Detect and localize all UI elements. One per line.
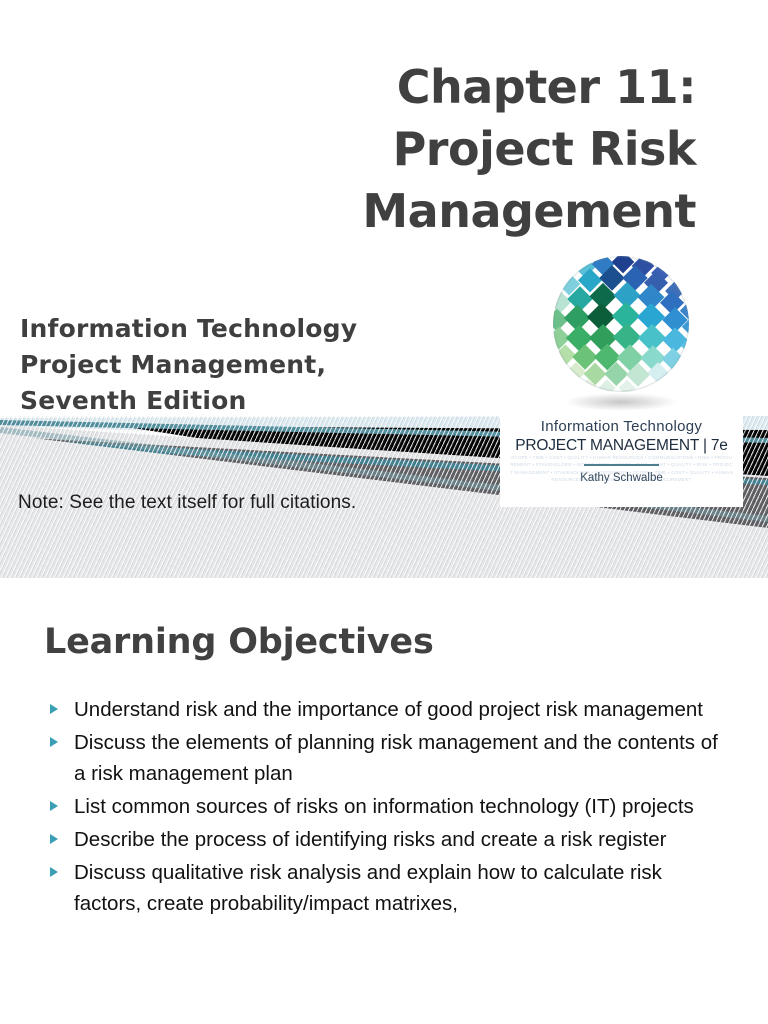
- list-item-label: Discuss the elements of planning risk ma…: [74, 731, 718, 785]
- page-title: Learning Objectives: [44, 622, 434, 662]
- subtitle-line-2: Project Management,: [20, 347, 460, 383]
- list-item-label: List common sources of risks on informat…: [74, 795, 694, 818]
- cover-title-line-1: Information Technology: [500, 418, 743, 435]
- globe-squares-icon: [540, 252, 703, 417]
- objectives-list: Understand risk and the importance of go…: [46, 694, 728, 921]
- slide-subtitle-block: Information Technology Project Managemen…: [20, 311, 460, 419]
- triangle-bullet-icon: [50, 704, 58, 714]
- triangle-bullet-icon: [50, 801, 58, 811]
- slide-title-block: Chapter 11: Project Risk Management: [276, 56, 696, 242]
- list-item: Describe the process of identifying risk…: [46, 824, 728, 855]
- list-item: List common sources of risks on informat…: [46, 791, 728, 822]
- cover-author: Kathy Schwalbe: [500, 472, 743, 484]
- triangle-bullet-icon: [50, 834, 58, 844]
- list-item: Discuss qualitative risk analysis and ex…: [46, 857, 728, 919]
- book-cover-image: SCOPE • TIME • COST • QUALITY • HUMAN RE…: [500, 248, 743, 507]
- triangle-bullet-icon: [50, 737, 58, 747]
- list-item-label: Understand risk and the importance of go…: [74, 698, 703, 721]
- citation-note: Note: See the text itself for full citat…: [18, 492, 356, 514]
- title-line-3: Management: [276, 180, 696, 242]
- subtitle-line-1: Information Technology: [20, 311, 460, 347]
- learning-objectives-slide: Learning Objectives Understand risk and …: [0, 578, 768, 1024]
- triangle-bullet-icon: [50, 867, 58, 877]
- list-item-label: Describe the process of identifying risk…: [74, 828, 666, 851]
- list-item-label: Discuss qualitative risk analysis and ex…: [74, 861, 662, 915]
- title-line-2: Project Risk: [276, 118, 696, 180]
- list-item: Understand risk and the importance of go…: [46, 694, 728, 725]
- cover-divider: [584, 464, 659, 466]
- title-line-1: Chapter 11:: [276, 56, 696, 118]
- list-item: Discuss the elements of planning risk ma…: [46, 727, 728, 789]
- title-slide: Chapter 11: Project Risk Management Info…: [0, 0, 768, 578]
- cover-title-line-2: PROJECT MANAGEMENT | 7e: [500, 437, 743, 455]
- subtitle-line-3: Seventh Edition: [20, 383, 460, 419]
- globe-svg: [540, 252, 703, 417]
